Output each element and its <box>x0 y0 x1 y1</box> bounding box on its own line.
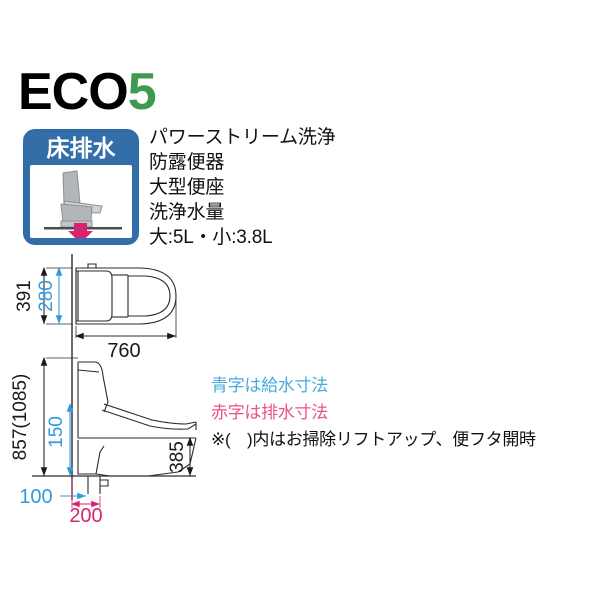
feature-item: 大:5L・小:3.8L <box>149 225 439 250</box>
legend-drain-dimension: 赤字は排水寸法 <box>211 399 591 426</box>
floor-drain-badge: 床排水 <box>23 129 139 245</box>
dim-label-760: 760 <box>107 340 140 362</box>
feature-item: 大型便座 <box>149 175 439 200</box>
dim-label-150: 150 <box>46 416 67 448</box>
dimension-legend: 青字は給水寸法 赤字は排水寸法 ※( )内はお掃除リフトアップ、便フタ開時 <box>211 372 591 453</box>
logo-text-eco: ECO <box>18 63 128 121</box>
feature-item: パワーストリーム洗浄 <box>149 125 439 150</box>
legend-footnote: ※( )内はお掃除リフトアップ、便フタ開時 <box>211 426 591 453</box>
toilet-floor-drain-icon <box>30 165 132 238</box>
feature-list: パワーストリーム洗浄 防露便器 大型便座 洗浄水量 大:5L・小:3.8L <box>149 125 439 250</box>
eco5-logo: ECO5 <box>18 66 156 118</box>
dim-label-200: 200 <box>69 505 102 522</box>
dim-label-100: 100 <box>19 486 52 508</box>
dim-label-385: 385 <box>167 441 188 473</box>
legend-supply-dimension: 青字は給水寸法 <box>211 372 591 399</box>
dim-label-857: 857(1085) <box>10 374 31 461</box>
floor-drain-badge-title: 床排水 <box>26 132 136 165</box>
product-spec-sheet: ECO5 床排水 <box>0 0 600 600</box>
dim-label-391: 391 <box>14 280 35 312</box>
dim-label-280: 280 <box>36 280 57 312</box>
feature-item: 洗浄水量 <box>149 200 439 225</box>
logo-text-five: 5 <box>128 63 156 121</box>
feature-item: 防露便器 <box>149 150 439 175</box>
floor-drain-badge-body <box>30 165 132 238</box>
